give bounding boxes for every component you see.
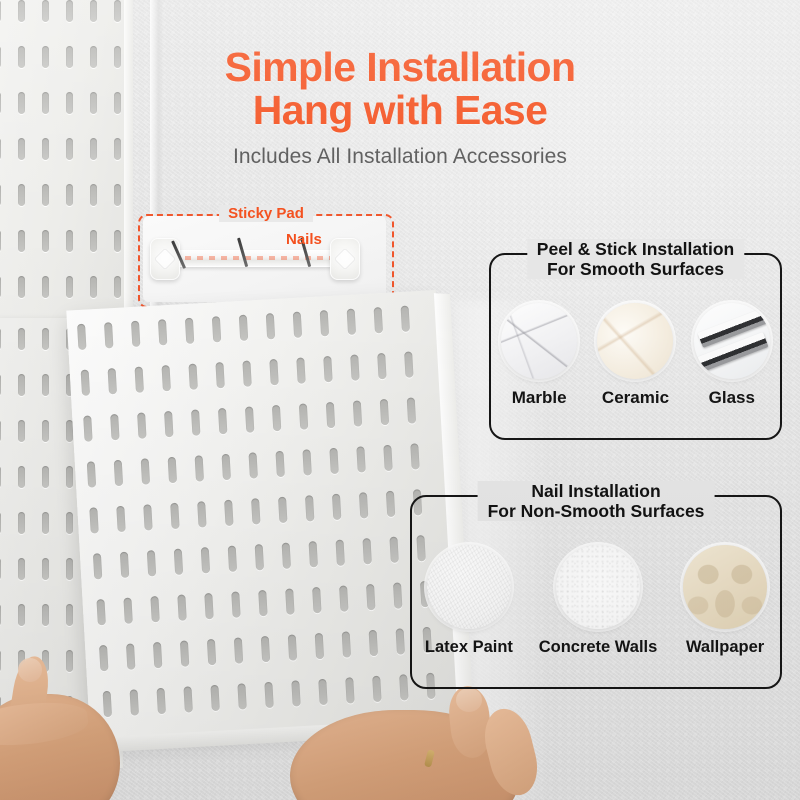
infographic-canvas: Simple Installation Hang with Ease Inclu… [0, 0, 800, 800]
vignette-overlay [0, 0, 800, 800]
